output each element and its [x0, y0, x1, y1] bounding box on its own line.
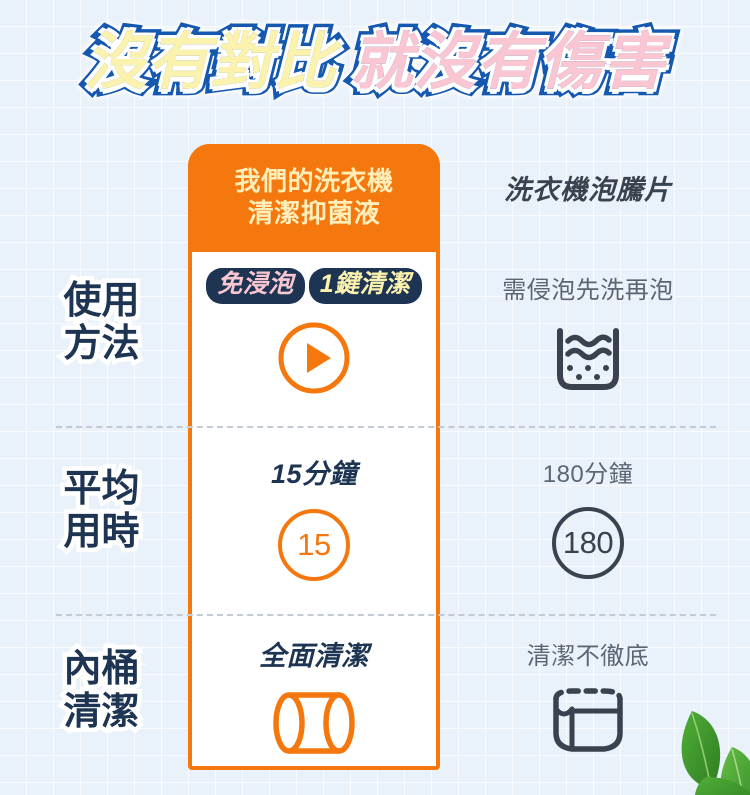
ours-drum-text: 全面清潔 [190, 634, 438, 673]
table-row: 使用 方法 免浸泡 1鍵清潔 需侵泡先洗再泡 [0, 248, 750, 420]
cell-ours-time: 15分鐘 15 [190, 452, 438, 581]
table-row: 內桶 清潔 全面清潔 清潔不徹底 [0, 620, 750, 780]
rival-time-text: 180分鐘 [443, 454, 733, 489]
row-label-time: 平均 用時 [14, 468, 189, 554]
badge-one-click: 1鍵清潔 [309, 268, 422, 304]
feature-badges: 免浸泡 1鍵清潔 [190, 268, 438, 304]
soaking-basin-icon [443, 323, 733, 395]
row-label-text: 平均 用時 [14, 468, 189, 554]
cell-ours-usage: 免浸泡 1鍵清潔 [190, 268, 438, 396]
row-label-usage: 使用 方法 [14, 280, 189, 366]
rival-usage-text: 需侵泡先洗再泡 [443, 270, 733, 305]
row-divider [56, 614, 716, 616]
partial-drum-icon [443, 687, 733, 755]
row-divider [56, 426, 716, 428]
page-title: 沒有對比就沒有傷害 [0, 26, 750, 99]
row-label-text: 內桶 清潔 [14, 648, 189, 734]
cell-rival-time: 180分鐘 180 [443, 454, 733, 579]
table-row: 平均 用時 15分鐘 15 180分鐘 180 [0, 430, 750, 610]
play-circle-icon [190, 320, 438, 396]
page-title-part1: 沒有對比 [84, 26, 336, 99]
our-product-header: 我們的洗衣機 清潔抑菌液 [188, 144, 440, 252]
our-product-header-label: 我們的洗衣機 清潔抑菌液 [234, 166, 393, 229]
ours-time-text: 15分鐘 [190, 452, 438, 491]
cell-ours-drum: 全面清潔 [190, 634, 438, 757]
rival-drum-text: 清潔不徹底 [443, 636, 733, 671]
cell-rival-drum: 清潔不徹底 [443, 636, 733, 755]
circle-number-value: 15 [278, 509, 350, 581]
circle-number-icon-rival: 180 [443, 507, 733, 579]
clean-drum-icon [190, 689, 438, 757]
row-label-drum: 內桶 清潔 [14, 648, 189, 734]
row-label-text: 使用 方法 [14, 280, 189, 366]
circle-number-icon-ours: 15 [190, 509, 438, 581]
badge-no-soak: 免浸泡 [206, 268, 305, 304]
cell-rival-usage: 需侵泡先洗再泡 [443, 270, 733, 395]
comparison-table: 我們的洗衣機 清潔抑菌液 洗衣機泡騰片 使用 方法 免浸泡 1鍵清潔 [0, 140, 750, 780]
page-title-part2: 就沒有傷害 [351, 26, 666, 99]
infographic-page: 沒有對比就沒有傷害 我們的洗衣機 清潔抑菌液 洗衣機泡騰片 使用 方法 免浸泡 … [0, 0, 750, 795]
circle-number-value: 180 [552, 507, 624, 579]
rival-product-header-label: 洗衣機泡騰片 [443, 168, 733, 207]
